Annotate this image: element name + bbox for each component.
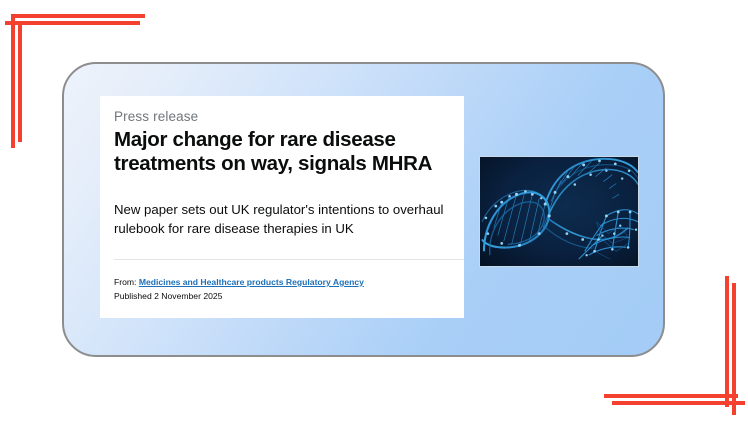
metadata-block: From: Medicines and Healthcare products … bbox=[114, 276, 364, 303]
press-release-card: Press release Major change for rare dise… bbox=[62, 62, 665, 357]
metadata-published-date: 2 November 2025 bbox=[154, 291, 222, 301]
metadata-published-row: Published 2 November 2025 bbox=[114, 290, 364, 304]
bracket-stroke-horizontal-inner bbox=[5, 21, 140, 25]
metadata-divider bbox=[114, 259, 464, 260]
metadata-published-label: Published bbox=[114, 291, 152, 301]
bracket-stroke-horizontal-outer bbox=[11, 14, 145, 18]
bracket-stroke-vertical-inner bbox=[18, 21, 22, 142]
bracket-stroke-vertical-outer bbox=[725, 276, 729, 407]
page-summary: New paper sets out UK regulator's intent… bbox=[114, 201, 450, 238]
metadata-from-row: From: Medicines and Healthcare products … bbox=[114, 276, 364, 290]
page-kicker: Press release bbox=[114, 108, 450, 125]
screenshot-canvas: Press release Major change for rare dise… bbox=[0, 0, 748, 421]
press-release-panel: Press release Major change for rare dise… bbox=[100, 96, 464, 318]
metadata-from-label: From: bbox=[114, 277, 136, 287]
page-title: Major change for rare disease treatments… bbox=[114, 128, 450, 176]
bracket-stroke-horizontal-inner bbox=[612, 401, 745, 405]
dna-helix-svg bbox=[480, 157, 638, 266]
organisation-link[interactable]: Medicines and Healthcare products Regula… bbox=[139, 277, 364, 287]
bracket-stroke-horizontal-outer bbox=[604, 394, 738, 398]
bracket-stroke-vertical-outer bbox=[11, 14, 15, 148]
dna-double-helix-illustration bbox=[479, 156, 639, 267]
